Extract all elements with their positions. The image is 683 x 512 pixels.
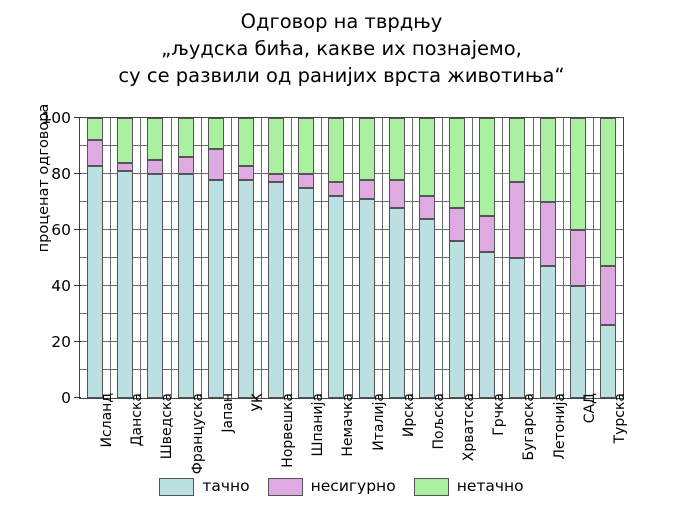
bar-segment-0	[178, 174, 194, 398]
legend-item[interactable]: несигурно	[268, 478, 396, 496]
x-axis-tick-label: УК	[251, 393, 265, 411]
bar-segment-1	[298, 174, 314, 188]
legend-swatch-icon	[268, 478, 303, 496]
x-axis-tick-label: Хрватска	[462, 393, 476, 461]
bar-segment-1	[178, 157, 194, 174]
x-axis-tick-label: Јапан	[221, 393, 235, 433]
bar-segment-2	[419, 118, 435, 196]
gridline-vertical	[593, 118, 594, 398]
bar-segment-2	[178, 118, 194, 157]
bar-segment-2	[117, 118, 133, 163]
x-axis-tick-label: Бугарска	[522, 393, 536, 460]
bar-segment-1	[600, 266, 616, 325]
y-axis-tick-label: 100	[31, 110, 71, 126]
y-axis-tick	[74, 117, 81, 118]
bar-segment-0	[509, 258, 525, 398]
gridline-vertical	[563, 118, 564, 398]
bar-segment-1	[268, 174, 284, 182]
y-axis-tick-label: 20	[31, 334, 71, 350]
x-axis-tick-label: Пољска	[432, 393, 446, 449]
bar-segment-2	[359, 118, 375, 180]
gridline-vertical	[201, 118, 202, 398]
gridline-vertical	[291, 118, 292, 398]
x-axis-tick-label: Грчка	[492, 393, 506, 436]
x-axis-tick-label: Турска	[613, 393, 627, 443]
y-axis-tick	[74, 229, 81, 230]
bar-segment-1	[570, 230, 586, 286]
bar-segment-2	[147, 118, 163, 160]
legend-item[interactable]: тачно	[159, 478, 249, 496]
bar-segment-0	[419, 219, 435, 398]
bar-segment-2	[268, 118, 284, 174]
bar-segment-1	[419, 196, 435, 218]
legend-label: несигурно	[311, 479, 396, 495]
bar-segment-0	[238, 180, 254, 398]
bar-segment-2	[600, 118, 616, 266]
bar-segment-2	[389, 118, 405, 180]
bar-segment-0	[147, 174, 163, 398]
x-axis-tick-label: Шведска	[160, 393, 174, 459]
bar-segment-2	[87, 118, 103, 140]
chart-title: Одговор на тврдњу „људска бића, какве их…	[0, 8, 683, 89]
bar-segment-0	[328, 196, 344, 398]
x-axis-tick-label: САД	[583, 393, 597, 423]
y-axis-tick	[74, 341, 81, 342]
bar-segment-0	[570, 286, 586, 398]
legend-item[interactable]: нетачно	[414, 478, 524, 496]
y-axis-tick	[74, 173, 81, 174]
bar-segment-2	[540, 118, 556, 202]
legend-swatch-icon	[159, 478, 194, 496]
x-axis-tick-label: Данска	[130, 393, 144, 446]
y-axis-tick-label: 80	[31, 166, 71, 182]
plot-area: 020406080100ИсландДанскаШведскаФранцуска…	[79, 117, 624, 399]
chart-legend: тачнонесигурнонетачно	[0, 478, 683, 496]
gridline-vertical	[502, 118, 503, 398]
x-axis-tick-label: Исланд	[100, 393, 114, 448]
y-axis-tick-label: 0	[31, 390, 71, 406]
bar-segment-2	[509, 118, 525, 182]
x-axis-tick-label: Италија	[372, 393, 386, 451]
gridline-vertical	[261, 118, 262, 398]
bar-segment-1	[117, 163, 133, 171]
bar-segment-2	[238, 118, 254, 166]
gridline-vertical	[382, 118, 383, 398]
x-axis-tick-label: Француска	[191, 393, 205, 474]
bar-segment-0	[87, 166, 103, 398]
bar-segment-0	[389, 208, 405, 398]
x-axis-tick-label: Норвешка	[281, 393, 295, 468]
bar-segment-0	[298, 188, 314, 398]
gridline-vertical	[412, 118, 413, 398]
gridline-vertical	[533, 118, 534, 398]
bar-segment-0	[449, 241, 465, 398]
gridline-vertical	[442, 118, 443, 398]
bar-segment-2	[298, 118, 314, 174]
x-axis-tick-label: Шпанија	[311, 393, 325, 456]
bar-segment-0	[208, 180, 224, 398]
bar-segment-1	[87, 140, 103, 165]
x-axis-tick-label: Немачка	[341, 393, 355, 457]
bar-segment-2	[328, 118, 344, 182]
bar-segment-1	[359, 180, 375, 200]
gridline-vertical	[352, 118, 353, 398]
gridline-vertical	[321, 118, 322, 398]
legend-swatch-icon	[414, 478, 449, 496]
chart-figure: Одговор на тврдњу „људска бића, какве их…	[0, 0, 683, 512]
bar-segment-2	[208, 118, 224, 149]
legend-label: нетачно	[457, 479, 524, 495]
bar-segment-0	[117, 171, 133, 398]
bar-segment-0	[600, 325, 616, 398]
bar-segment-1	[328, 182, 344, 196]
bar-segment-1	[509, 182, 525, 258]
y-axis-tick-label: 60	[31, 222, 71, 238]
bar-segment-0	[540, 266, 556, 398]
x-axis-tick-label: Летонија	[553, 393, 567, 460]
gridline-vertical	[231, 118, 232, 398]
x-axis-tick-label: Ирска	[402, 393, 416, 437]
bar-segment-1	[238, 166, 254, 180]
gridline-vertical	[472, 118, 473, 398]
bar-segment-1	[389, 180, 405, 208]
bar-segment-0	[359, 199, 375, 398]
bar-segment-1	[479, 216, 495, 252]
legend-label: тачно	[202, 479, 249, 495]
bar-segment-1	[540, 202, 556, 266]
gridline-vertical	[110, 118, 111, 398]
y-axis-tick	[74, 397, 81, 398]
bar-segment-1	[147, 160, 163, 174]
bar-segment-2	[479, 118, 495, 216]
bar-segment-2	[570, 118, 586, 230]
bar-segment-0	[479, 252, 495, 398]
bar-segment-1	[449, 208, 465, 242]
gridline-vertical	[140, 118, 141, 398]
bar-segment-0	[268, 182, 284, 398]
y-axis-tick	[74, 285, 81, 286]
bar-segment-1	[208, 149, 224, 180]
y-axis-tick-label: 40	[31, 278, 71, 294]
bar-segment-2	[449, 118, 465, 208]
gridline-vertical	[171, 118, 172, 398]
